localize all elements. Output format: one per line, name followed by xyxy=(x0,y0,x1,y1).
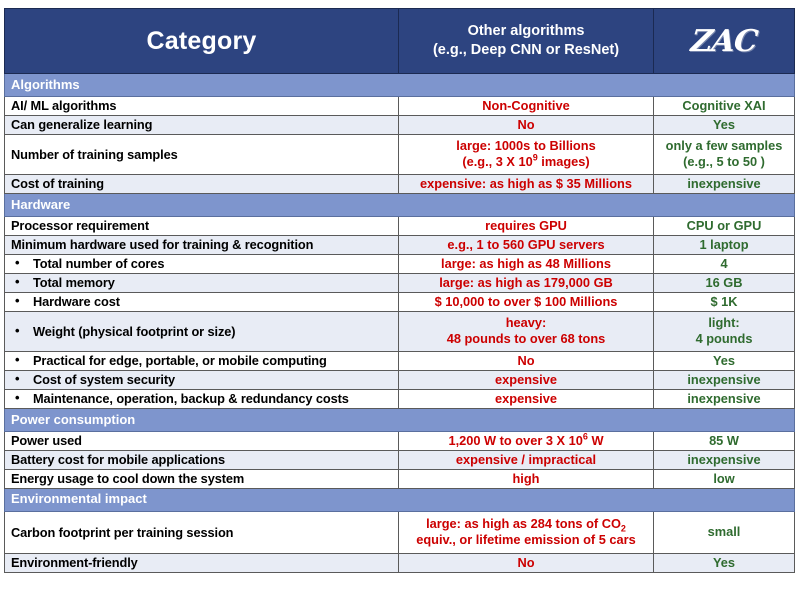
row-category: AI/ ML algorithms xyxy=(5,97,399,116)
row-zac-value: 1 laptop xyxy=(654,235,795,254)
row-category-bulleted: Total number of cores xyxy=(11,256,392,271)
section-band-environmental-impact: Environmental impact xyxy=(5,488,795,511)
row-other-value: high xyxy=(399,469,654,488)
row-other-value: 1,200 W to over 3 X 106 W xyxy=(399,431,654,450)
row-zac-value: 16 GB xyxy=(654,273,795,292)
table-row: Can generalize learning No Yes xyxy=(5,115,795,134)
section-band-label: Hardware xyxy=(5,193,795,216)
row-category: Carbon footprint per training session xyxy=(5,511,399,553)
row-zac-value: 4 xyxy=(654,254,795,273)
row-category-bulleted: Total memory xyxy=(11,275,392,290)
row-category-bulleted: Hardware cost xyxy=(11,294,392,309)
row-other-line1: large: 1000s to Billions xyxy=(405,138,647,154)
table-row: AI/ ML algorithms Non-Cognitive Cognitiv… xyxy=(5,97,795,116)
row-other-value: heavy: 48 pounds to over 68 tons xyxy=(399,311,654,351)
table-row: Total number of cores large: as high as … xyxy=(5,254,795,273)
row-other-line1: large: as high as 284 tons of CO2 xyxy=(405,516,647,532)
row-other-value: $ 10,000 to over $ 100 Millions xyxy=(399,292,654,311)
row-other-value: Non-Cognitive xyxy=(399,97,654,116)
row-other-value: e.g., 1 to 560 GPU servers xyxy=(399,235,654,254)
table-row: Cost of training expensive: as high as $… xyxy=(5,174,795,193)
row-zac-line2: 4 pounds xyxy=(660,331,788,347)
row-other-value: No xyxy=(399,115,654,134)
row-category: Hardware cost xyxy=(5,292,399,311)
row-zac-value: small xyxy=(654,511,795,553)
row-category: Energy usage to cool down the system xyxy=(5,469,399,488)
row-zac-value: Cognitive XAI xyxy=(654,97,795,116)
row-other-line2: equiv., or lifetime emission of 5 cars xyxy=(405,532,647,548)
table-header-row: Category Other algorithms (e.g., Deep CN… xyxy=(5,9,795,74)
row-other-value: expensive / impractical xyxy=(399,450,654,469)
row-zac-value: inexpensive xyxy=(654,174,795,193)
row-zac-value: only a few samples (e.g., 5 to 50 ) xyxy=(654,134,795,174)
row-other-value: requires GPU xyxy=(399,216,654,235)
row-category-bulleted: Cost of system security xyxy=(11,372,392,387)
row-category: Power used xyxy=(5,431,399,450)
row-category: Processor requirement xyxy=(5,216,399,235)
table-row: Weight (physical footprint or size) heav… xyxy=(5,311,795,351)
table-row: Maintenance, operation, backup & redunda… xyxy=(5,389,795,408)
row-other-value: large: as high as 179,000 GB xyxy=(399,273,654,292)
row-category: Weight (physical footprint or size) xyxy=(5,311,399,351)
row-category: Battery cost for mobile applications xyxy=(5,450,399,469)
row-zac-value: $ 1K xyxy=(654,292,795,311)
section-band-algorithms: Algorithms xyxy=(5,74,795,97)
row-category-bulleted: Practical for edge, portable, or mobile … xyxy=(11,353,392,368)
row-other-value: expensive: as high as $ 35 Millions xyxy=(399,174,654,193)
row-category: Environment-friendly xyxy=(5,553,399,572)
row-zac-line1: only a few samples xyxy=(660,138,788,154)
section-band-label: Algorithms xyxy=(5,74,795,97)
table-row: Minimum hardware used for training & rec… xyxy=(5,235,795,254)
table-row: Total memory large: as high as 179,000 G… xyxy=(5,273,795,292)
row-category-bulleted: Maintenance, operation, backup & redunda… xyxy=(11,391,392,406)
comparison-table: Category Other algorithms (e.g., Deep CN… xyxy=(4,8,795,573)
row-category-bulleted: Weight (physical footprint or size) xyxy=(11,324,392,339)
row-zac-value: light: 4 pounds xyxy=(654,311,795,351)
row-other-value-a: 1,200 W to over 3 X 10 xyxy=(448,433,582,448)
table-row: Power used 1,200 W to over 3 X 106 W 85 … xyxy=(5,431,795,450)
row-category: Cost of training xyxy=(5,174,399,193)
section-band-label: Power consumption xyxy=(5,408,795,431)
table-row: Environment-friendly No Yes xyxy=(5,553,795,572)
row-zac-value: inexpensive xyxy=(654,389,795,408)
header-zac: ZAC xyxy=(654,9,795,74)
row-category: Practical for edge, portable, or mobile … xyxy=(5,351,399,370)
row-category: Cost of system security xyxy=(5,370,399,389)
header-other-algorithms: Other algorithms (e.g., Deep CNN or ResN… xyxy=(399,9,654,74)
row-other-value: No xyxy=(399,553,654,572)
row-other-line2-b: images) xyxy=(538,154,590,169)
row-zac-value: Yes xyxy=(654,553,795,572)
row-other-value: large: as high as 284 tons of CO2 equiv.… xyxy=(399,511,654,553)
header-category: Category xyxy=(5,9,399,74)
row-zac-value: 85 W xyxy=(654,431,795,450)
row-category: Minimum hardware used for training & rec… xyxy=(5,235,399,254)
row-zac-line1: light: xyxy=(660,315,788,331)
row-other-line1: heavy: xyxy=(405,315,647,331)
row-category: Number of training samples xyxy=(5,134,399,174)
row-other-value: large: 1000s to Billions (e.g., 3 X 109 … xyxy=(399,134,654,174)
table-row: Carbon footprint per training session la… xyxy=(5,511,795,553)
comparison-sheet: Category Other algorithms (e.g., Deep CN… xyxy=(4,8,794,596)
row-zac-value: low xyxy=(654,469,795,488)
section-band-label: Environmental impact xyxy=(5,488,795,511)
row-zac-line2: (e.g., 5 to 50 ) xyxy=(660,154,788,170)
table-row: Number of training samples large: 1000s … xyxy=(5,134,795,174)
row-other-value-b: W xyxy=(588,433,604,448)
row-other-value: large: as high as 48 Millions xyxy=(399,254,654,273)
table-row: Cost of system security expensive inexpe… xyxy=(5,370,795,389)
table-row: Practical for edge, portable, or mobile … xyxy=(5,351,795,370)
row-other-line2-a: (e.g., 3 X 10 xyxy=(462,154,532,169)
row-category: Total number of cores xyxy=(5,254,399,273)
row-zac-value: inexpensive xyxy=(654,370,795,389)
table-row: Battery cost for mobile applications exp… xyxy=(5,450,795,469)
row-other-line1-a: large: as high as 284 tons of CO xyxy=(426,516,621,531)
section-band-power-consumption: Power consumption xyxy=(5,408,795,431)
row-zac-value: Yes xyxy=(654,351,795,370)
row-other-value: No xyxy=(399,351,654,370)
row-category: Maintenance, operation, backup & redunda… xyxy=(5,389,399,408)
row-category: Total memory xyxy=(5,273,399,292)
header-other-line1: Other algorithms xyxy=(405,22,647,41)
table-row: Processor requirement requires GPU CPU o… xyxy=(5,216,795,235)
table-row: Energy usage to cool down the system hig… xyxy=(5,469,795,488)
row-other-line2: 48 pounds to over 68 tons xyxy=(405,331,647,347)
row-zac-value: Yes xyxy=(654,115,795,134)
row-other-line2: (e.g., 3 X 109 images) xyxy=(405,154,647,170)
row-other-value: expensive xyxy=(399,389,654,408)
table-row: Hardware cost $ 10,000 to over $ 100 Mil… xyxy=(5,292,795,311)
row-other-value: expensive xyxy=(399,370,654,389)
zac-logo-icon: ZAC xyxy=(689,24,759,59)
section-band-hardware: Hardware xyxy=(5,193,795,216)
row-zac-value: CPU or GPU xyxy=(654,216,795,235)
row-zac-value: inexpensive xyxy=(654,450,795,469)
row-category: Can generalize learning xyxy=(5,115,399,134)
header-other-line2: (e.g., Deep CNN or ResNet) xyxy=(405,41,647,60)
